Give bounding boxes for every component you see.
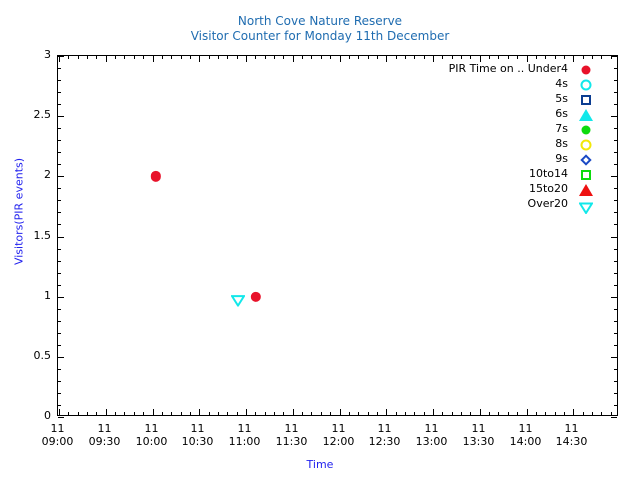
legend-marker [572,62,600,77]
y-axis-minor-tick [58,200,61,201]
legend-label: 5s [555,92,568,106]
y-axis-minor-tick [614,80,617,81]
marker-triangle-up-filled-icon [579,109,593,121]
x-axis-tick [433,409,434,415]
x-axis-minor-tick [564,56,565,59]
chart-subtitle: Visitor Counter for Monday 11th December [0,29,640,44]
y-axis-tick-label: 0.5 [5,349,51,362]
x-axis-minor-tick [78,56,79,59]
x-axis-tick [59,409,60,415]
y-axis-tick-label: 0 [5,409,51,422]
y-axis-minor-tick [614,273,617,274]
y-axis-minor-tick [58,405,61,406]
y-axis-minor-tick [58,393,61,394]
x-axis-minor-tick [517,412,518,415]
x-axis-minor-tick [237,412,238,415]
x-axis-tick [153,409,154,415]
y-axis-minor-tick [614,164,617,165]
chart-title-block: North Cove Nature Reserve Visitor Counte… [0,14,640,44]
y-axis-minor-tick [58,369,61,370]
y-axis-minor-tick [614,140,617,141]
legend-item-15to20[interactable]: 15to20 [420,182,600,197]
x-axis-tick [340,409,341,415]
x-axis-minor-tick [68,412,69,415]
legend-item-9s[interactable]: 9s [420,152,600,167]
x-axis-minor-tick [87,56,88,59]
x-axis-minor-tick [555,412,556,415]
y-axis-minor-tick [58,164,61,165]
legend-label: 10to14 [529,167,568,181]
x-axis-minor-tick [330,412,331,415]
x-axis-minor-tick [115,56,116,59]
x-axis-minor-tick [330,56,331,59]
x-axis-minor-tick [489,56,490,59]
legend: PIR Time on .. Under44s5s6s7s8s9s10to141… [420,62,600,217]
x-axis-minor-tick [461,412,462,415]
x-axis-minor-tick [68,56,69,59]
x-axis-minor-tick [396,56,397,59]
x-axis-minor-tick [508,412,509,415]
marker-circle-filled-icon [151,171,161,181]
x-axis-minor-tick [255,56,256,59]
x-axis-minor-tick [601,412,602,415]
y-axis-minor-tick [614,333,617,334]
x-axis-tick [246,56,247,62]
x-axis-minor-tick [218,56,219,59]
x-axis-minor-tick [536,412,537,415]
x-axis-minor-tick [414,56,415,59]
marker-circle-open-icon [581,139,592,150]
x-axis-minor-tick [171,412,172,415]
x-axis-minor-tick [134,56,135,59]
y-axis-tick [58,417,64,418]
legend-marker [572,92,600,107]
x-axis-tick [293,409,294,415]
x-axis-minor-tick [358,56,359,59]
x-axis-minor-tick [190,56,191,59]
y-axis-minor-tick [58,381,61,382]
x-axis-minor-tick [349,412,350,415]
y-axis-minor-tick [614,285,617,286]
x-axis-minor-tick [181,56,182,59]
y-axis-minor-tick [58,285,61,286]
x-axis-minor-tick [601,56,602,59]
x-axis-tick [106,56,107,62]
y-axis-minor-tick [58,140,61,141]
y-axis-minor-tick [58,212,61,213]
x-axis-minor-tick [143,56,144,59]
x-axis-minor-tick [274,412,275,415]
x-axis-minor-tick [227,56,228,59]
y-axis-minor-tick [58,249,61,250]
x-axis-minor-tick [218,412,219,415]
x-axis-minor-tick [498,412,499,415]
y-axis-tick [611,116,617,117]
x-axis-minor-tick [96,412,97,415]
y-axis-tick [611,56,617,57]
x-axis-minor-tick [209,412,210,415]
y-axis-minor-tick [614,92,617,93]
legend-marker [572,137,600,152]
x-axis-minor-tick [583,56,584,59]
x-axis-minor-tick [190,412,191,415]
y-axis-minor-tick [58,297,61,298]
chart-root: North Cove Nature Reserve Visitor Counte… [0,0,640,480]
x-axis-minor-tick [265,412,266,415]
x-axis-minor-tick [470,412,471,415]
y-axis-minor-tick [614,309,617,310]
x-axis-minor-tick [405,56,406,59]
x-axis-minor-tick [611,56,612,59]
y-axis-minor-tick [58,68,61,69]
y-axis-minor-tick [58,333,61,334]
x-axis-tick [386,56,387,62]
legend-marker [572,122,600,137]
x-axis-tick [293,56,294,62]
y-axis-minor-tick [614,261,617,262]
y-axis-minor-tick [614,405,617,406]
x-axis-tick-time: 14:30 [542,435,602,448]
y-axis-tick-label: 2.5 [5,108,51,121]
y-axis-minor-tick [614,321,617,322]
y-axis-tick [611,237,617,238]
y-axis-minor-tick [614,128,617,129]
y-axis-minor-tick [58,345,61,346]
x-axis-minor-tick [227,412,228,415]
y-axis-minor-tick [58,273,61,274]
x-axis-title: Time [0,458,640,471]
legend-item-4s[interactable]: 4s [420,77,600,92]
y-axis-tick-label: 3 [5,48,51,61]
x-axis-minor-tick [237,56,238,59]
y-axis-minor-tick [58,188,61,189]
x-axis-tick [199,409,200,415]
x-axis-minor-tick [414,412,415,415]
y-axis-minor-tick [614,152,617,153]
legend-label: 7s [555,122,568,136]
legend-item-under4[interactable]: PIR Time on .. Under4 [420,62,600,77]
marker-circle-filled-icon [582,65,591,74]
y-axis-minor-tick [614,369,617,370]
y-axis-minor-tick [614,188,617,189]
x-axis-minor-tick [311,412,312,415]
x-axis-minor-tick [470,56,471,59]
x-axis-minor-tick [396,412,397,415]
x-axis-minor-tick [311,56,312,59]
x-axis-minor-tick [405,412,406,415]
legend-label: PIR Time on .. Under4 [449,62,568,76]
x-axis-minor-tick [283,56,284,59]
x-axis-minor-tick [87,412,88,415]
x-axis-minor-tick [452,56,453,59]
x-axis-minor-tick [377,412,378,415]
chart-title: North Cove Nature Reserve [0,14,640,29]
marker-triangle-down-open-icon [579,199,593,211]
x-axis-minor-tick [265,56,266,59]
y-axis-minor-tick [58,80,61,81]
y-axis-tick-label: 1 [5,289,51,302]
y-axis-tick [58,237,64,238]
y-axis-minor-tick [58,92,61,93]
legend-marker [572,182,600,197]
x-axis-minor-tick [96,56,97,59]
y-axis-minor-tick [58,104,61,105]
x-axis-minor-tick [124,412,125,415]
y-axis-minor-tick [614,212,617,213]
legend-marker [572,152,600,167]
marker-triangle-down-open-icon [231,291,245,303]
x-axis-minor-tick [124,56,125,59]
legend-marker [572,107,600,122]
x-axis-tick [59,56,60,62]
y-axis-tick [58,357,64,358]
legend-label: 9s [555,152,568,166]
legend-item-over20[interactable]: Over20 [420,197,600,212]
y-axis-minor-tick [614,104,617,105]
marker-diamond-open-icon [580,154,591,165]
y-axis-tick-label: 1.5 [5,229,51,242]
x-axis-minor-tick [424,412,425,415]
x-axis-tick [106,409,107,415]
y-axis-tick [611,357,617,358]
x-axis-minor-tick [162,56,163,59]
x-axis-minor-tick [545,412,546,415]
x-axis-minor-tick [302,412,303,415]
y-axis-minor-tick [58,128,61,129]
y-axis-minor-tick [614,345,617,346]
x-axis-minor-tick [377,56,378,59]
y-axis-minor-tick [614,68,617,69]
x-axis-minor-tick [555,56,556,59]
y-axis-tick-label: 2 [5,168,51,181]
x-axis-tick-label: 1114:30 [542,422,602,448]
marker-triangle-up-filled-icon [579,184,593,196]
x-axis-minor-tick [143,412,144,415]
y-axis-tick [58,116,64,117]
marker-square-open-icon [581,95,591,105]
marker-circle-open-icon [581,79,592,90]
legend-label: 6s [555,107,568,121]
x-axis-minor-tick [498,56,499,59]
legend-item-6s[interactable]: 6s [420,107,600,122]
x-axis-minor-tick [134,412,135,415]
x-axis-minor-tick [255,412,256,415]
x-axis-minor-tick [349,56,350,59]
x-axis-minor-tick [162,412,163,415]
y-axis-minor-tick [614,249,617,250]
marker-square-open-icon [581,170,591,180]
x-axis-minor-tick [171,56,172,59]
marker-circle-filled-icon [582,125,591,134]
y-axis-minor-tick [614,297,617,298]
legend-item-5s[interactable]: 5s [420,92,600,107]
x-axis-minor-tick [536,56,537,59]
legend-item-8s[interactable]: 8s [420,137,600,152]
x-axis-minor-tick [321,412,322,415]
marker-circle-filled-icon [251,291,261,301]
x-axis-tick-day: 11 [542,422,602,435]
y-axis-minor-tick [58,261,61,262]
legend-marker [572,197,600,212]
x-axis-tick [340,56,341,62]
x-axis-minor-tick [611,412,612,415]
x-axis-minor-tick [78,412,79,415]
y-axis-minor-tick [58,321,61,322]
x-axis-minor-tick [181,412,182,415]
legend-label: 15to20 [529,182,568,196]
x-axis-minor-tick [368,56,369,59]
x-axis-minor-tick [209,56,210,59]
x-axis-tick [527,409,528,415]
x-axis-tick [386,409,387,415]
legend-marker [572,77,600,92]
y-axis-minor-tick [614,381,617,382]
legend-label: 4s [555,77,568,91]
x-axis-minor-tick [508,56,509,59]
x-axis-tick [246,409,247,415]
legend-item-10to14[interactable]: 10to14 [420,167,600,182]
x-axis-minor-tick [283,412,284,415]
x-axis-minor-tick [517,56,518,59]
x-axis-minor-tick [489,412,490,415]
x-axis-minor-tick [358,412,359,415]
x-axis-minor-tick [564,412,565,415]
x-axis-minor-tick [302,56,303,59]
legend-marker [572,167,600,182]
x-axis-minor-tick [368,412,369,415]
y-axis-minor-tick [614,200,617,201]
legend-label: 8s [555,137,568,151]
legend-item-7s[interactable]: 7s [420,122,600,137]
x-axis-minor-tick [545,56,546,59]
x-axis-tick [199,56,200,62]
y-axis-minor-tick [58,152,61,153]
y-axis-minor-tick [58,309,61,310]
x-axis-minor-tick [115,412,116,415]
x-axis-tick [153,56,154,62]
y-axis-title: Visitors(PIR events) [13,132,26,292]
y-axis-minor-tick [614,393,617,394]
x-axis-minor-tick [583,412,584,415]
y-axis-minor-tick [614,224,617,225]
y-axis-tick [58,176,64,177]
x-axis-tick [480,409,481,415]
x-axis-minor-tick [442,412,443,415]
legend-label: Over20 [528,197,568,211]
x-axis-tick [573,409,574,415]
x-axis-minor-tick [442,56,443,59]
x-axis-minor-tick [461,56,462,59]
y-axis-tick [611,417,617,418]
x-axis-minor-tick [274,56,275,59]
y-axis-tick [611,176,617,177]
x-axis-minor-tick [592,412,593,415]
x-axis-minor-tick [321,56,322,59]
x-axis-minor-tick [424,56,425,59]
x-axis-minor-tick [452,412,453,415]
x-axis-minor-tick [592,56,593,59]
y-axis-minor-tick [58,224,61,225]
